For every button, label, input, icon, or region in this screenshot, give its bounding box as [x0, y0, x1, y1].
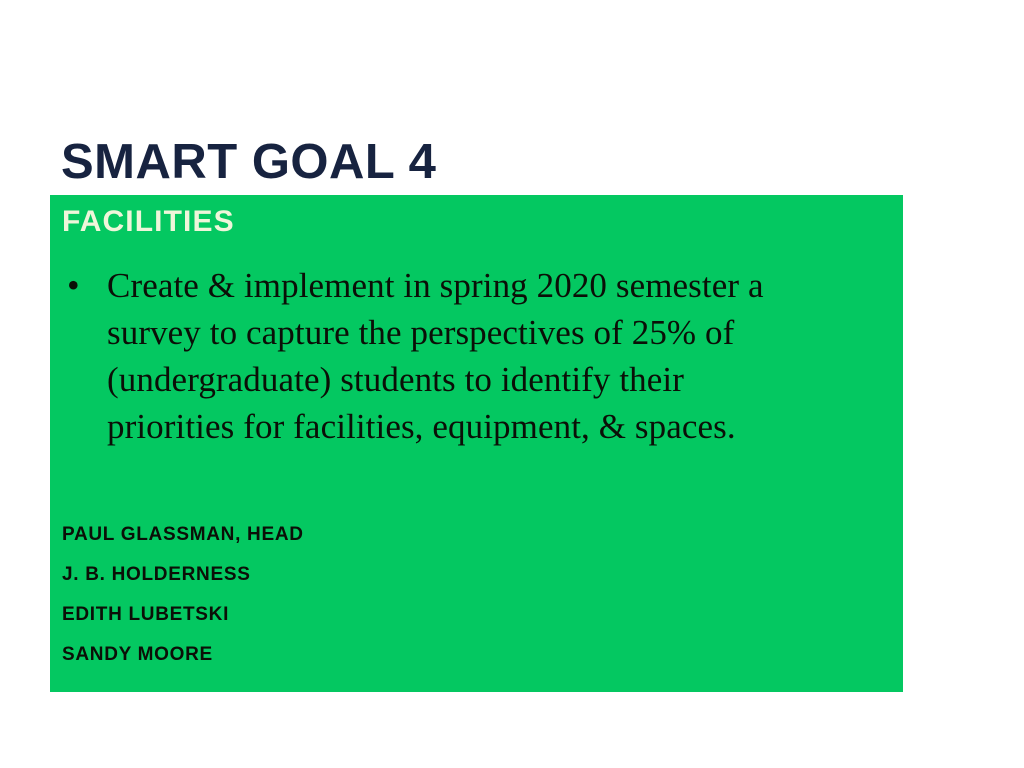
list-item: PAUL GLASSMAN, HEAD	[62, 515, 662, 555]
objective-line: survey to capture the perspectives of 25…	[107, 309, 897, 356]
list-item: SANDY MOORE	[62, 635, 662, 675]
objective-bullet-item: • Create & implement in spring 2020 seme…	[62, 262, 897, 450]
page-title: SMART GOAL 4	[61, 136, 436, 189]
objective-line: (undergraduate) students to identify the…	[107, 356, 897, 403]
objective-text: Create & implement in spring 2020 semest…	[107, 262, 897, 450]
panel-heading: FACILITIES	[62, 205, 235, 239]
list-item: EDITH LUBETSKI	[62, 595, 662, 635]
presentation-slide: SMART GOAL 4 FACILITIES • Create & imple…	[0, 0, 1024, 768]
content-panel: FACILITIES • Create & implement in sprin…	[50, 195, 903, 692]
objective-line: priorities for facilities, equipment, & …	[107, 403, 897, 450]
committee-roster: PAUL GLASSMAN, HEAD J. B. HOLDERNESS EDI…	[62, 515, 662, 675]
bullet-marker-icon: •	[62, 262, 107, 309]
objective-line: Create & implement in spring 2020 semest…	[107, 262, 897, 309]
list-item: J. B. HOLDERNESS	[62, 555, 662, 595]
